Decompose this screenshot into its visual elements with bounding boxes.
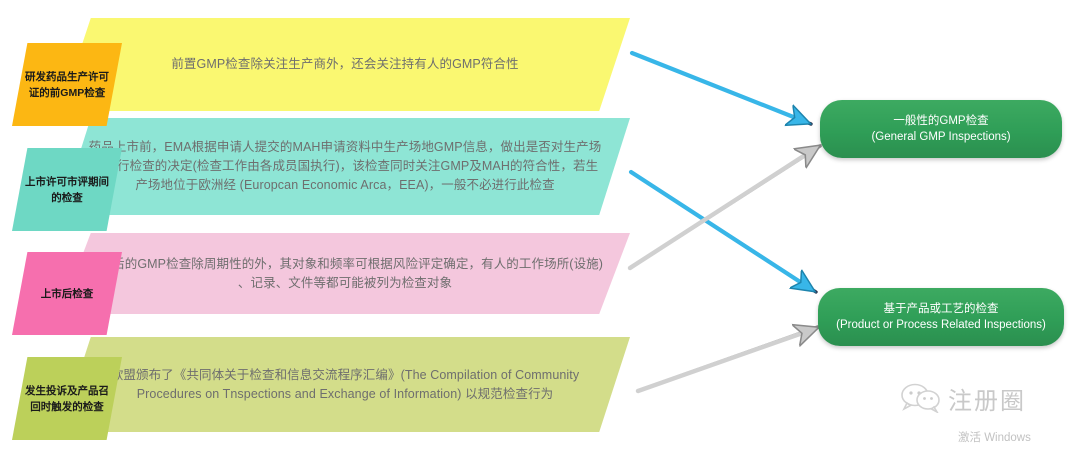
outcome-label-cn: 一般性的GMP检查 xyxy=(871,113,1010,129)
outcome-label: 一般性的GMP检查 (General GMP Inspections) xyxy=(859,113,1022,145)
band-text: 欧盟颁布了《共同体关于检查和信息交流程序汇编》(The Compilation … xyxy=(60,366,630,404)
category-tag-prelicense[interactable]: 研发药品生产许可证的前GMP检查 xyxy=(12,43,122,126)
category-tag-post-marketing[interactable]: 上市后检查 xyxy=(12,252,122,335)
wechat-icon xyxy=(900,383,942,413)
band-text: 上市后的GMP检查除周期性的外，其对象和频率可根据风险评定确定，有人的工作场所(… xyxy=(60,255,630,293)
arrow-post-marketing-to-general xyxy=(630,146,820,268)
arrow-marketing-authorisation-to-product xyxy=(631,172,816,292)
band-text: 药品上市前，EMA根据申请人提交的MAH申请资料中生产场地GMP信息，做出是否对… xyxy=(60,138,630,195)
outcome-label-en: (Product or Process Related Inspections) xyxy=(836,317,1046,333)
outcome-label-cn: 基于产品或工艺的检查 xyxy=(836,301,1046,317)
category-tag-label: 上市许可市评期间的检查 xyxy=(12,174,122,206)
category-tag-complaint-recall[interactable]: 发生投诉及产品召回时触发的检查 xyxy=(12,357,122,440)
watermark-brand: 注册圈 xyxy=(948,381,1026,416)
outcome-label: 基于产品或工艺的检查 (Product or Process Related I… xyxy=(824,301,1058,333)
content-band-post-marketing: 上市后的GMP检查除周期性的外，其对象和频率可根据风险评定确定，有人的工作场所(… xyxy=(60,233,630,314)
category-tag-label: 上市后检查 xyxy=(32,286,103,302)
content-band-complaint-recall: 欧盟颁布了《共同体关于检查和信息交流程序汇编》(The Compilation … xyxy=(60,337,630,432)
arrow-complaint-recall-to-product xyxy=(638,327,818,391)
category-tag-label: 发生投诉及产品召回时触发的检查 xyxy=(12,383,122,415)
arrow-prelicense-to-general xyxy=(632,53,811,124)
content-band-marketing-authorisation: 药品上市前，EMA根据申请人提交的MAH申请资料中生产场地GMP信息，做出是否对… xyxy=(60,118,630,215)
content-band-prelicense: 前置GMP检查除关注生产商外，还会关注持有人的GMP符合性 xyxy=(60,18,630,111)
outcome-label-en: (General GMP Inspections) xyxy=(871,129,1010,145)
category-tag-label: 研发药品生产许可证的前GMP检查 xyxy=(12,69,122,101)
diagram-canvas: 前置GMP检查除关注生产商外，还会关注持有人的GMP符合性 药品上市前，EMA根… xyxy=(0,0,1080,453)
outcome-product-process-inspections[interactable]: 基于产品或工艺的检查 (Product or Process Related I… xyxy=(818,288,1064,346)
watermark: 注册圈 xyxy=(900,378,1075,418)
band-text: 前置GMP检查除关注生产商外，还会关注持有人的GMP符合性 xyxy=(145,55,544,74)
outcome-general-gmp-inspections[interactable]: 一般性的GMP检查 (General GMP Inspections) xyxy=(820,100,1062,158)
category-tag-marketing-authorisation[interactable]: 上市许可市评期间的检查 xyxy=(12,148,122,231)
windows-activation-notice: 激活 Windows xyxy=(958,429,1031,445)
